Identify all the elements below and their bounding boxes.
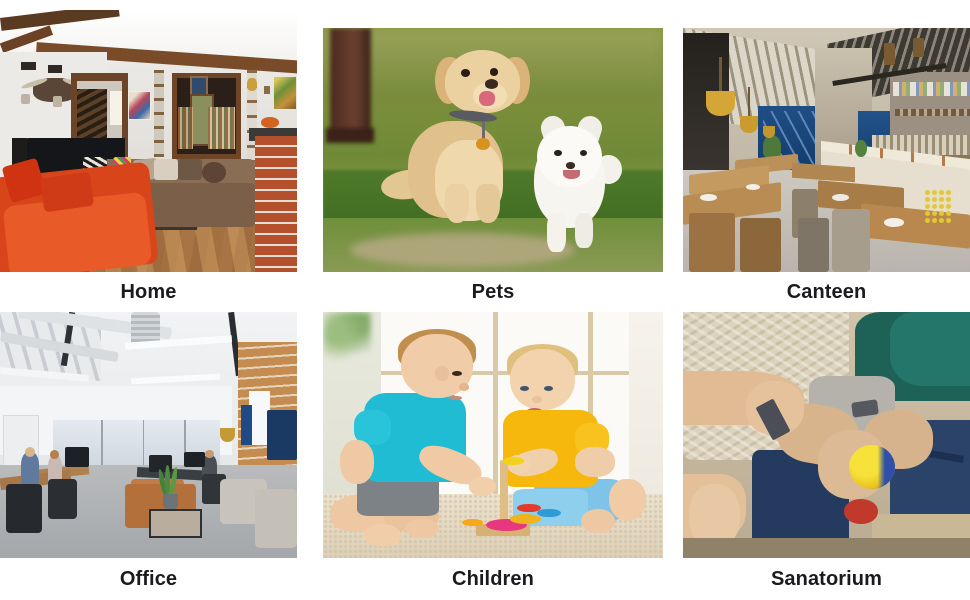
caption-cell-office: Office [0, 558, 297, 600]
label-sanatorium: Sanatorium [683, 558, 970, 600]
label-pets: Pets [323, 272, 663, 312]
label-children: Children [323, 558, 663, 600]
caption-cell-pets: Pets [323, 272, 663, 312]
scenario-tile-pets[interactable] [323, 10, 663, 272]
caption-cell-home: Home [0, 272, 297, 312]
scenario-tile-canteen[interactable] [683, 10, 970, 272]
caption-gutter-3 [297, 558, 323, 600]
home-photo [0, 10, 297, 272]
pets-photo [323, 28, 663, 272]
gutter-1 [297, 10, 323, 272]
gutter-3 [297, 312, 323, 558]
caption-cell-sanatorium: Sanatorium [683, 558, 970, 600]
scenario-tile-home[interactable] [0, 10, 297, 272]
gutter-2 [663, 10, 683, 272]
scenario-tile-office[interactable] [0, 312, 297, 558]
sanatorium-photo [683, 312, 970, 558]
caption-cell-canteen: Canteen [683, 272, 970, 312]
canteen-photo [683, 28, 970, 272]
label-home: Home [0, 272, 297, 312]
caption-gutter-2 [663, 272, 683, 312]
scenario-tile-children[interactable] [323, 312, 663, 558]
label-canteen: Canteen [683, 272, 970, 312]
scenario-grid: Home Pets Canteen [0, 0, 970, 600]
office-photo [0, 312, 297, 558]
label-office: Office [0, 558, 297, 600]
gutter-4 [663, 312, 683, 558]
caption-gutter-4 [663, 558, 683, 600]
top-spacer [0, 0, 970, 10]
scenario-tile-sanatorium[interactable] [683, 312, 970, 558]
caption-cell-children: Children [323, 558, 663, 600]
children-photo [323, 312, 663, 558]
caption-gutter-1 [297, 272, 323, 312]
